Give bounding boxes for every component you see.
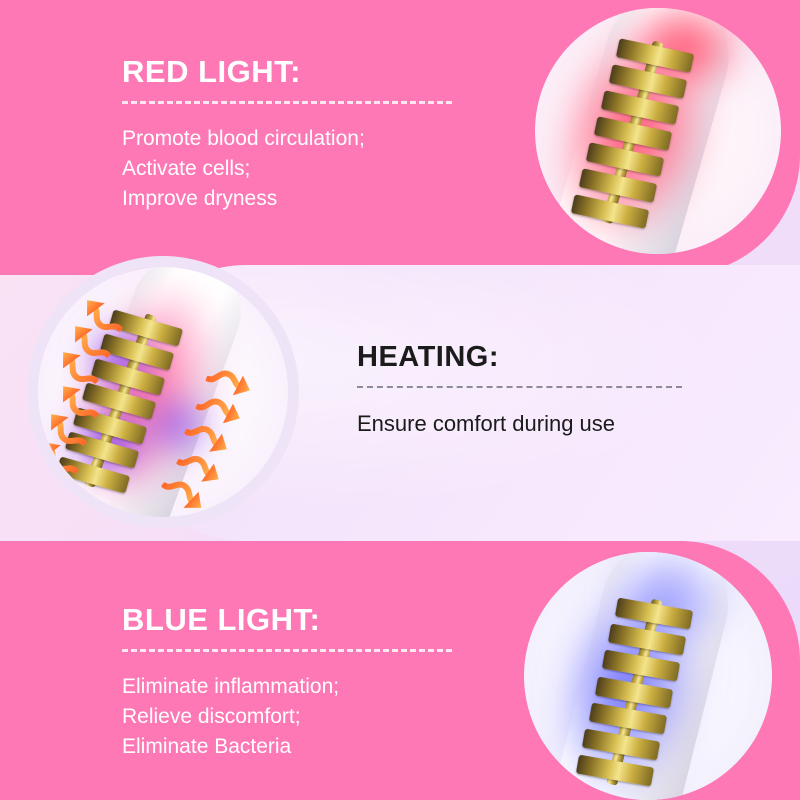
heating-text-block: HEATING: Ensure comfort during use (357, 343, 682, 439)
blue-light-benefit-list: Eliminate inflammation; Relieve discomfo… (122, 672, 452, 761)
feature-infographic: RED LIGHT: Promote blood circulation; Ac… (0, 0, 800, 800)
list-item: Promote blood circulation; (122, 124, 452, 154)
red-light-benefit-list: Promote blood circulation; Activate cell… (122, 124, 452, 213)
blue-light-text-block: BLUE LIGHT: Eliminate inflammation; Reli… (122, 604, 452, 761)
list-item: Ensure comfort during use (357, 408, 682, 439)
blue-light-heading: BLUE LIGHT: (122, 604, 452, 635)
red-light-product-photo (535, 8, 781, 254)
heating-divider (357, 386, 682, 388)
list-item: Relieve discomfort; (122, 702, 452, 732)
blue-light-divider (122, 649, 452, 652)
red-light-text-block: RED LIGHT: Promote blood circulation; Ac… (122, 56, 452, 213)
list-item: Activate cells; (122, 154, 452, 184)
blue-light-product-photo (524, 552, 772, 800)
heating-benefit-list: Ensure comfort during use (357, 408, 682, 439)
red-light-divider (122, 101, 452, 104)
list-item: Eliminate inflammation; (122, 672, 452, 702)
red-light-heading: RED LIGHT: (122, 56, 452, 87)
heating-product-photo (38, 267, 288, 517)
heating-heading: HEATING: (357, 343, 682, 372)
list-item: Eliminate Bacteria (122, 732, 452, 762)
list-item: Improve dryness (122, 184, 452, 214)
